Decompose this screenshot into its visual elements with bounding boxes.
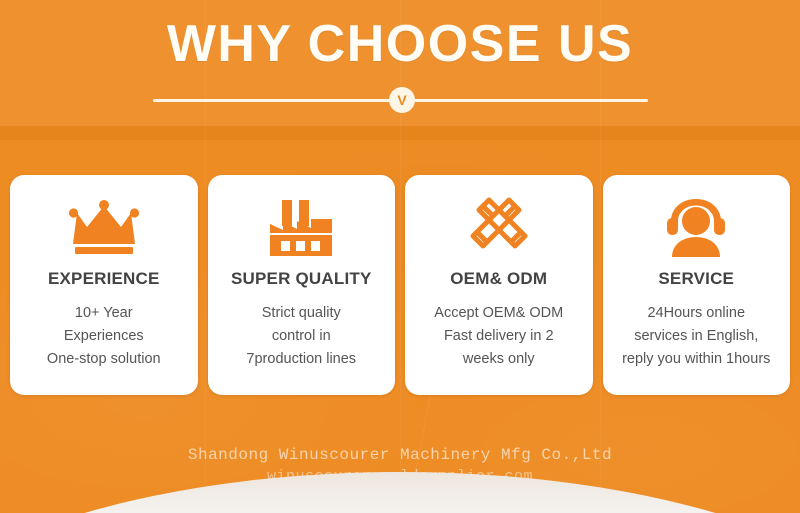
page-title: WHY CHOOSE US: [0, 14, 800, 74]
feature-card-list: EXPERIENCE 10+ Year Experiences One-stop…: [10, 175, 790, 395]
feature-card-service[interactable]: SERVICE 24Hours online services in Engli…: [603, 175, 791, 395]
crown-icon: [10, 189, 198, 267]
why-choose-us-banner: WHY CHOOSE US V EXPERIENCE: [0, 0, 800, 513]
feature-card-title: SERVICE: [658, 269, 734, 289]
feature-card-title: EXPERIENCE: [48, 269, 160, 289]
divider: V: [153, 98, 648, 103]
feature-card-title: SUPER QUALITY: [231, 269, 372, 289]
divider-badge-label: V: [397, 93, 406, 107]
feature-card-body: 10+ Year Experiences One-stop solution: [41, 302, 167, 371]
headset-support-icon: [603, 189, 791, 267]
design-tools-icon: [405, 189, 593, 267]
feature-card-body: 24Hours online services in English, repl…: [616, 302, 776, 371]
feature-card-body: Strict quality control in 7production li…: [240, 302, 362, 371]
divider-badge: V: [389, 87, 415, 113]
feature-card-title: OEM& ODM: [450, 269, 547, 289]
feature-card-oem-odm[interactable]: OEM& ODM Accept OEM& ODM Fast delivery i…: [405, 175, 593, 395]
feature-card-experience[interactable]: EXPERIENCE 10+ Year Experiences One-stop…: [10, 175, 198, 395]
feature-card-body: Accept OEM& ODM Fast delivery in 2 weeks…: [428, 302, 569, 371]
factory-icon: [208, 189, 396, 267]
feature-card-super-quality[interactable]: SUPER QUALITY Strict quality control in …: [208, 175, 396, 395]
